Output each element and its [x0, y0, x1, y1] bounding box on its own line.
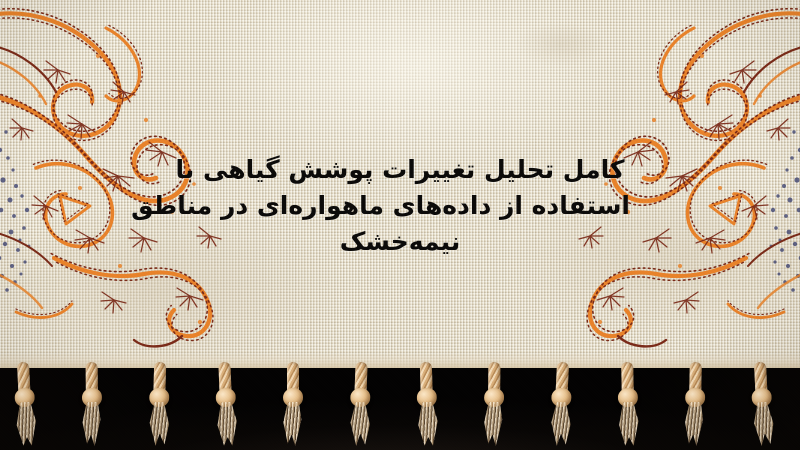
tassel [411, 362, 443, 449]
tassel-skirt [215, 402, 239, 447]
tassel [8, 361, 42, 448]
tassel [278, 362, 308, 448]
tassel [544, 361, 578, 448]
tassel-skirt [347, 402, 371, 447]
slide-title: کامل تحلیل تغییرات پوشش گیاهی با استفاده… [170, 152, 630, 260]
tassel [209, 361, 242, 448]
slide-canvas: کامل تحلیل تغییرات پوشش گیاهی با استفاده… [0, 0, 800, 450]
tassel [77, 362, 108, 448]
tassel [343, 361, 376, 448]
tassel-skirt [282, 402, 304, 446]
tassel-skirt [147, 402, 170, 447]
tassel-skirt [617, 402, 640, 446]
tassel-skirt [751, 401, 775, 446]
tassel [745, 361, 779, 448]
title-line-2: استفاده از داده‌های ماهواره‌ای در مناطق [170, 188, 630, 224]
tassel-skirt [483, 402, 505, 446]
tassel-skirt [81, 402, 103, 446]
tassel [612, 362, 644, 449]
title-line-1: کامل تحلیل تغییرات پوشش گیاهی با [170, 152, 630, 188]
tassel-fringe-row [0, 362, 800, 450]
tassel-skirt [14, 401, 38, 446]
tassel-skirt [548, 401, 572, 446]
tassel [143, 362, 175, 449]
tassel-skirt [416, 402, 439, 447]
tassel-skirt [683, 402, 706, 446]
tassel [679, 362, 711, 449]
tassel [479, 362, 510, 448]
title-line-3: نیمه‌خشک [170, 224, 630, 260]
